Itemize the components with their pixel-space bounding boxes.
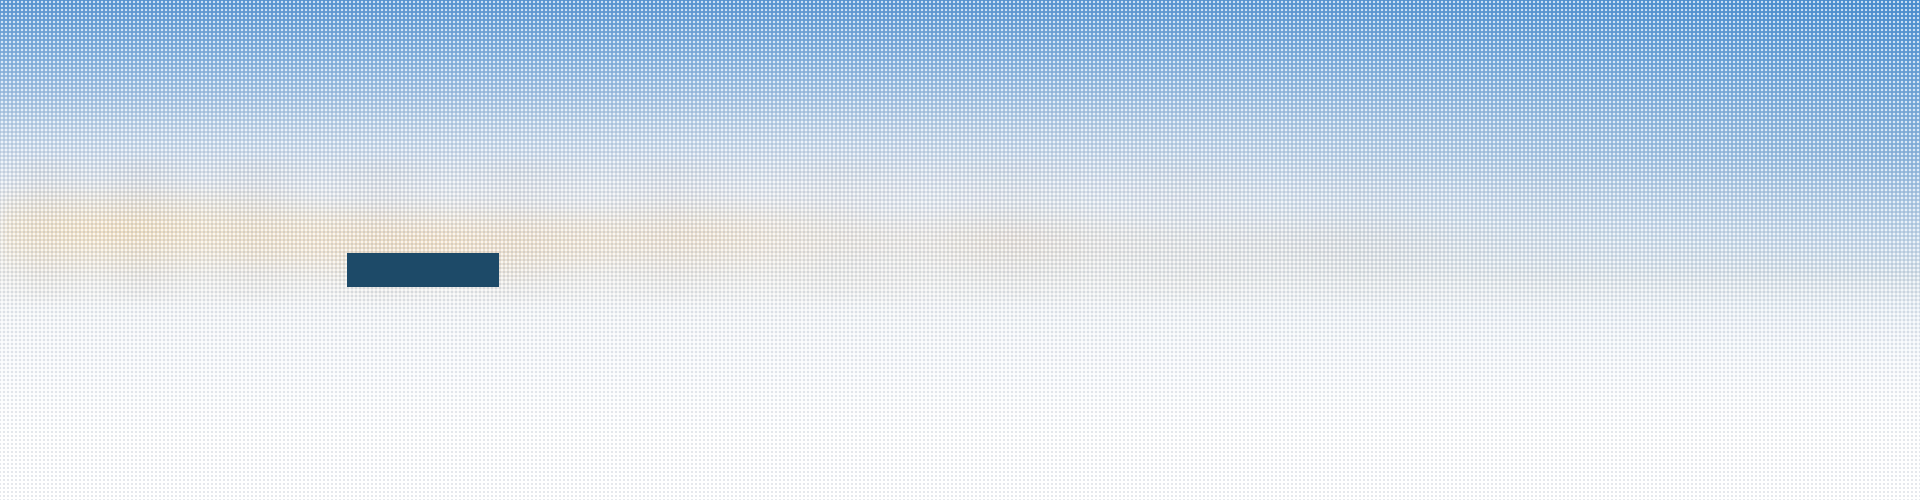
line-chart	[0, 0, 1920, 500]
banner-copy	[347, 128, 767, 154]
hero-banner	[0, 0, 1920, 500]
learn-more-button[interactable]	[347, 253, 499, 287]
